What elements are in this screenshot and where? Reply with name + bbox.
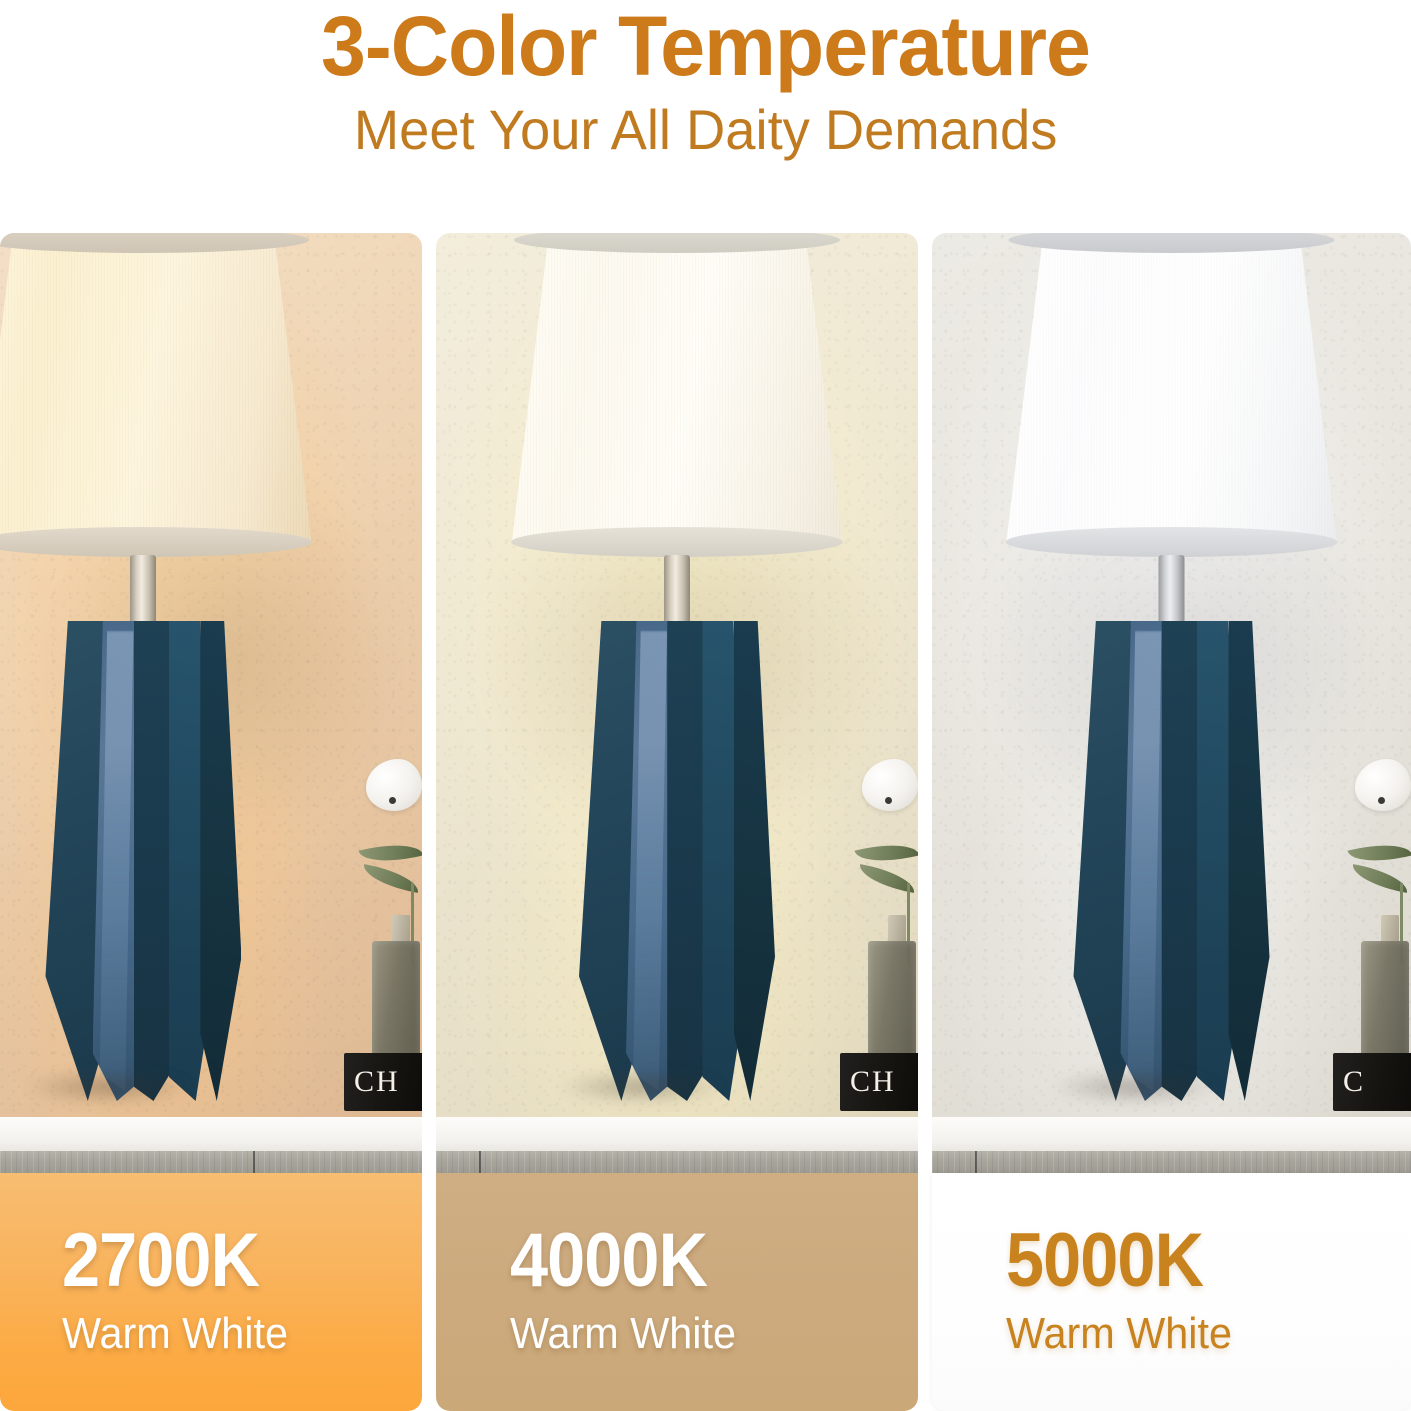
black-display-box: CH [344, 1053, 422, 1111]
photo-panel-strip: CH [0, 233, 1411, 1173]
kelvin-value: 2700K [62, 1225, 386, 1298]
decor-accessories: C [1327, 757, 1411, 1117]
lamp-neck [130, 555, 156, 629]
flower-center-dot [1378, 797, 1385, 804]
photo-panel-5000k: C [932, 233, 1411, 1173]
black-display-box: C [1333, 1053, 1411, 1111]
product-infographic: 3-Color Temperature Meet Your All Daity … [0, 0, 1411, 1411]
perfume-bottle [868, 941, 916, 1061]
drawer-seam [479, 1151, 481, 1173]
lamp-shade-bottom-trim [1006, 527, 1338, 557]
kelvin-label: Warm White [1006, 1308, 1387, 1360]
lamp-neck [664, 555, 690, 629]
console-table-drawer-edge [932, 1151, 1411, 1173]
page-title: 3-Color Temperature [321, 2, 1090, 90]
kelvin-label: Warm White [510, 1308, 894, 1360]
lamp-base-shadow [0, 1067, 226, 1107]
drawer-seam [975, 1151, 977, 1173]
black-display-box: CH [840, 1053, 918, 1111]
page-subtitle: Meet Your All Daity Demands [354, 96, 1058, 163]
lamp-shade [1007, 233, 1337, 557]
photo-panel-4000k: CH [436, 233, 918, 1173]
header: 3-Color Temperature Meet Your All Daity … [0, 0, 1411, 216]
lamp-shade-fabric-texture [1007, 237, 1337, 541]
kelvin-value: 5000K [1006, 1225, 1371, 1298]
color-temperature-bars: 2700K Warm White 4000K Warm White 5000K … [0, 1173, 1411, 1411]
display-box-label: CH [850, 1067, 896, 1097]
lamp-shade-bottom-trim [511, 527, 843, 557]
perfume-bottle [372, 941, 420, 1061]
lamp-base [1074, 621, 1270, 1101]
lamp-shade [512, 233, 842, 557]
flower-center-dot [885, 797, 892, 804]
color-bar-4000k: 4000K Warm White [436, 1173, 918, 1411]
drawer-seam [253, 1151, 255, 1173]
color-bar-5000k: 5000K Warm White [932, 1173, 1411, 1411]
lamp-base [579, 621, 775, 1101]
lamp-base-shadow [524, 1067, 759, 1107]
lamp-neck [1159, 555, 1185, 629]
console-table-drawer-edge [436, 1151, 918, 1173]
decor-accessories: CH [338, 757, 422, 1117]
perfume-bottle [1361, 941, 1409, 1061]
lamp-base [45, 621, 241, 1101]
lamp-shade-fabric-texture [0, 237, 311, 541]
lamp-shade [0, 233, 311, 557]
lamp-shade-body [512, 237, 842, 541]
display-box-label: C [1343, 1067, 1365, 1097]
lamp-shade-body [1007, 237, 1337, 541]
display-box-label: CH [354, 1067, 400, 1097]
lamp-shade-fabric-texture [512, 237, 842, 541]
lamp-base-shadow [1019, 1067, 1254, 1107]
lamp-shade-bottom-trim [0, 527, 312, 557]
table-lamp [0, 233, 354, 1121]
lamp-base-facet [734, 621, 775, 1101]
flower-center-dot [389, 797, 396, 804]
lamp-base-facet [1228, 621, 1269, 1101]
lamp-shade-body [0, 237, 311, 541]
kelvin-label: Warm White [62, 1308, 400, 1360]
console-table-drawer-edge [0, 1151, 422, 1173]
decor-accessories: CH [834, 757, 918, 1117]
kelvin-value: 4000K [510, 1225, 877, 1298]
lamp-base-facet [200, 621, 241, 1101]
color-bar-2700k: 2700K Warm White [0, 1173, 422, 1411]
photo-panel-2700k: CH [0, 233, 422, 1173]
